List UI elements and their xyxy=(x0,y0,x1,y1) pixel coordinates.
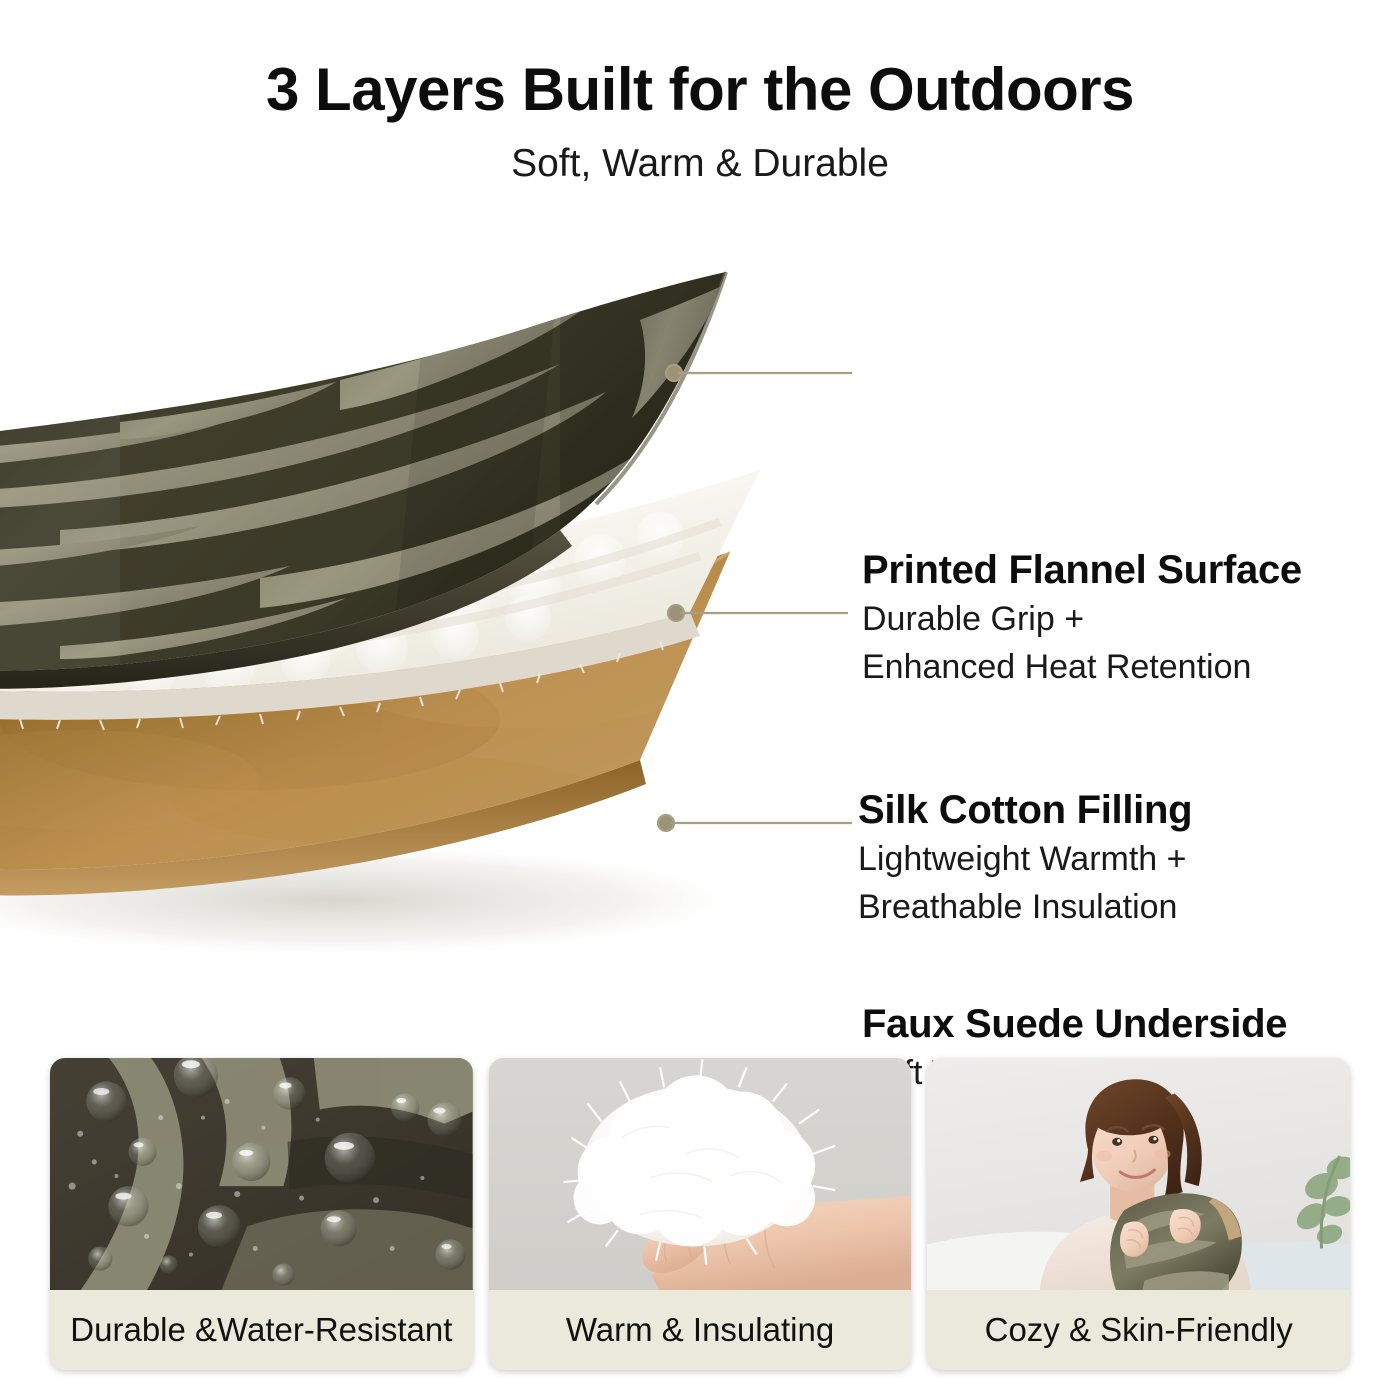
camo-blanket xyxy=(1110,1193,1242,1290)
layer-exploded-illustration: Printed Flannel Surface Durable Grip + E… xyxy=(0,200,1400,1040)
card-photo-graphic xyxy=(489,1058,912,1290)
feature-cards: Durable &Water-Resistant xyxy=(50,1058,1350,1370)
card-photo-graphic xyxy=(927,1058,1350,1290)
page-title: 3 Layers Built for the Outdoors xyxy=(0,58,1400,121)
callout-line: Durable Grip + xyxy=(862,597,1302,641)
callout-filling: Silk Cotton Filling Lightweight Warmth +… xyxy=(858,788,1192,929)
leader-line-flannel xyxy=(666,365,852,381)
card-photo-graphic xyxy=(50,1058,473,1290)
card-caption: Cozy & Skin-Friendly xyxy=(927,1290,1350,1370)
page-subtitle: Soft, Warm & Durable xyxy=(0,143,1400,186)
hand-holding-white-fiber-fill-photo xyxy=(489,1058,912,1290)
feature-card[interactable]: Durable &Water-Resistant xyxy=(50,1058,473,1370)
callout-line: Breathable Insulation xyxy=(858,885,1192,929)
callout-line: Lightweight Warmth + xyxy=(858,837,1192,881)
water-droplets-on-camo-fabric-photo xyxy=(50,1058,473,1290)
header: 3 Layers Built for the Outdoors Soft, Wa… xyxy=(0,0,1400,186)
callout-title: Faux Suede Underside xyxy=(862,1002,1287,1047)
callout-line: Enhanced Heat Retention xyxy=(862,645,1302,689)
callout-title: Printed Flannel Surface xyxy=(862,548,1302,593)
leader-line-suede xyxy=(658,815,852,831)
card-caption: Warm & Insulating xyxy=(489,1290,912,1370)
card-caption: Durable &Water-Resistant xyxy=(50,1290,473,1370)
callout-title: Silk Cotton Filling xyxy=(858,788,1192,833)
callout-flannel: Printed Flannel Surface Durable Grip + E… xyxy=(862,548,1302,689)
feature-card[interactable]: Warm & Insulating xyxy=(489,1058,912,1370)
feature-card[interactable]: Cozy & Skin-Friendly xyxy=(927,1058,1350,1370)
woman-hugging-camo-blanket-photo xyxy=(927,1058,1350,1290)
